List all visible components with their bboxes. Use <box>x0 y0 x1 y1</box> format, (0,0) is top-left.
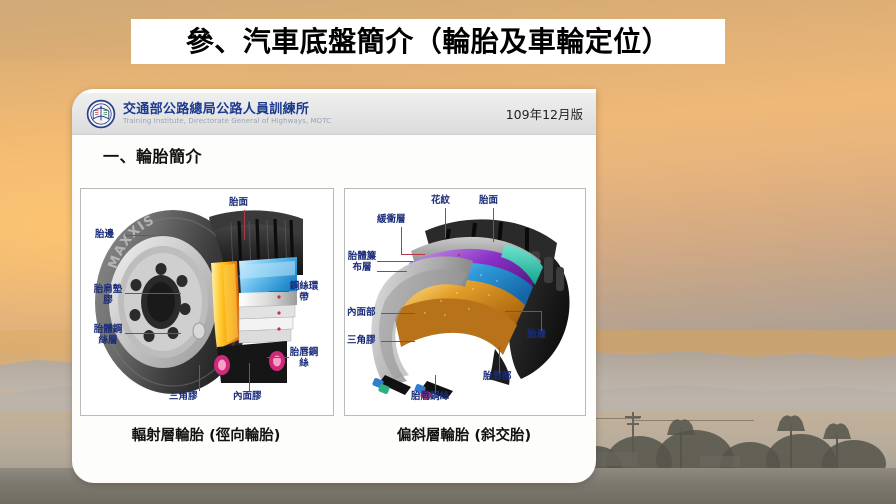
label-inner-liner: 內面膠 <box>233 391 262 402</box>
section-heading: 一、輪胎簡介 <box>103 143 202 167</box>
figure-bias-ply-tire: 花紋 胎面 緩衝層 胎體簾布層 內面部 三角膠 胎邊 胎唇部 胎唇鋼絲 <box>344 188 586 416</box>
label-inner-surface: 內面部 <box>347 307 376 318</box>
label-bead-wire: 胎唇鋼絲 <box>289 347 319 369</box>
slide-header-band: 交通部公路總局公路人員訓練所 Training Institute, Direc… <box>72 93 596 135</box>
page-title: 參、汽車底盤簡介（輪胎及車輪定位） <box>186 28 671 56</box>
organization-name: 交通部公路總局公路人員訓練所 <box>123 103 331 116</box>
organization-name-english: Training Institute, Directorate General … <box>123 118 331 125</box>
caption-bias-ply-tire: 偏斜層輪胎 (斜交胎) <box>344 424 584 445</box>
label-shoulder-cushion: 胎肩墊膠 <box>93 284 123 306</box>
institute-emblem-icon <box>86 99 116 129</box>
label-tread-surface: 胎面 <box>229 197 248 208</box>
label-sidewall: 胎邊 <box>527 329 546 340</box>
label-tread-pattern: 花紋 <box>431 195 450 206</box>
label-apex-rubber: 三角膠 <box>347 335 376 346</box>
figure-radial-tire: MAXXIS <box>80 188 334 416</box>
slide-title-banner: 參、汽車底盤簡介（輪胎及車輪定位） <box>131 19 725 64</box>
label-carcass-fabric-ply: 胎體簾布層 <box>347 251 377 273</box>
label-bead-area: 胎唇部 <box>483 371 512 382</box>
version-label: 109年12月版 <box>506 104 583 123</box>
label-steel-belt: 鋼絲環帶 <box>289 281 319 303</box>
label-sidewall: 胎邊 <box>95 229 114 240</box>
label-bead-wire: 胎唇鋼絲 <box>411 391 449 402</box>
label-cushion-layer: 緩衝層 <box>377 214 406 225</box>
slide-panel: 交通部公路總局公路人員訓練所 Training Institute, Direc… <box>72 89 596 483</box>
label-carcass-steel-ply: 胎體鋼絲層 <box>93 324 123 346</box>
caption-radial-tire: 輻射層輪胎 (徑向輪胎) <box>80 424 332 445</box>
label-apex-rubber: 三角膠 <box>169 391 198 402</box>
label-tread-surface: 胎面 <box>479 195 498 206</box>
